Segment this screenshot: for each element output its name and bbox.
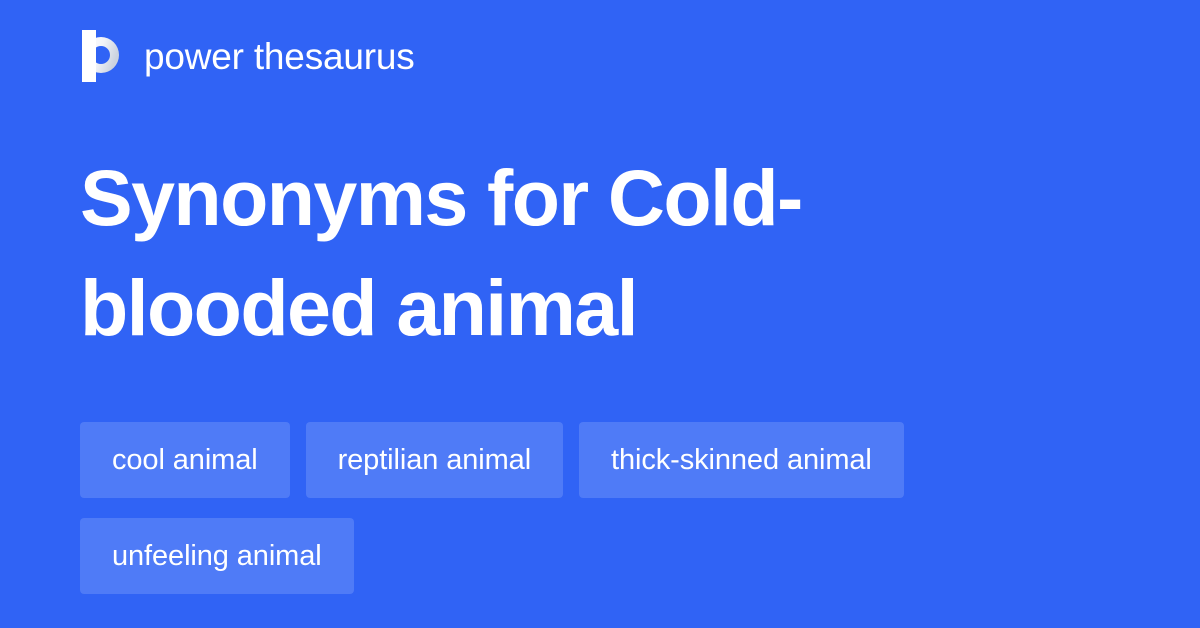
brand-logo-row[interactable]: power thesaurus (80, 28, 415, 84)
synonym-chip[interactable]: cool animal (80, 422, 290, 498)
power-thesaurus-b-logo-icon (80, 30, 126, 82)
brand-name: power thesaurus (144, 38, 415, 75)
synonym-chip[interactable]: unfeeling animal (80, 518, 354, 594)
page-title: Synonyms for Cold-blooded animal (80, 143, 980, 363)
synonym-chip[interactable]: reptilian animal (306, 422, 563, 498)
synonym-chip[interactable]: thick-skinned animal (579, 422, 904, 498)
power-thesaurus-share-card: power thesaurus Synonyms for Cold-bloode… (0, 0, 1200, 628)
synonym-chip-list: cool animal reptilian animal thick-skinn… (80, 422, 1120, 594)
